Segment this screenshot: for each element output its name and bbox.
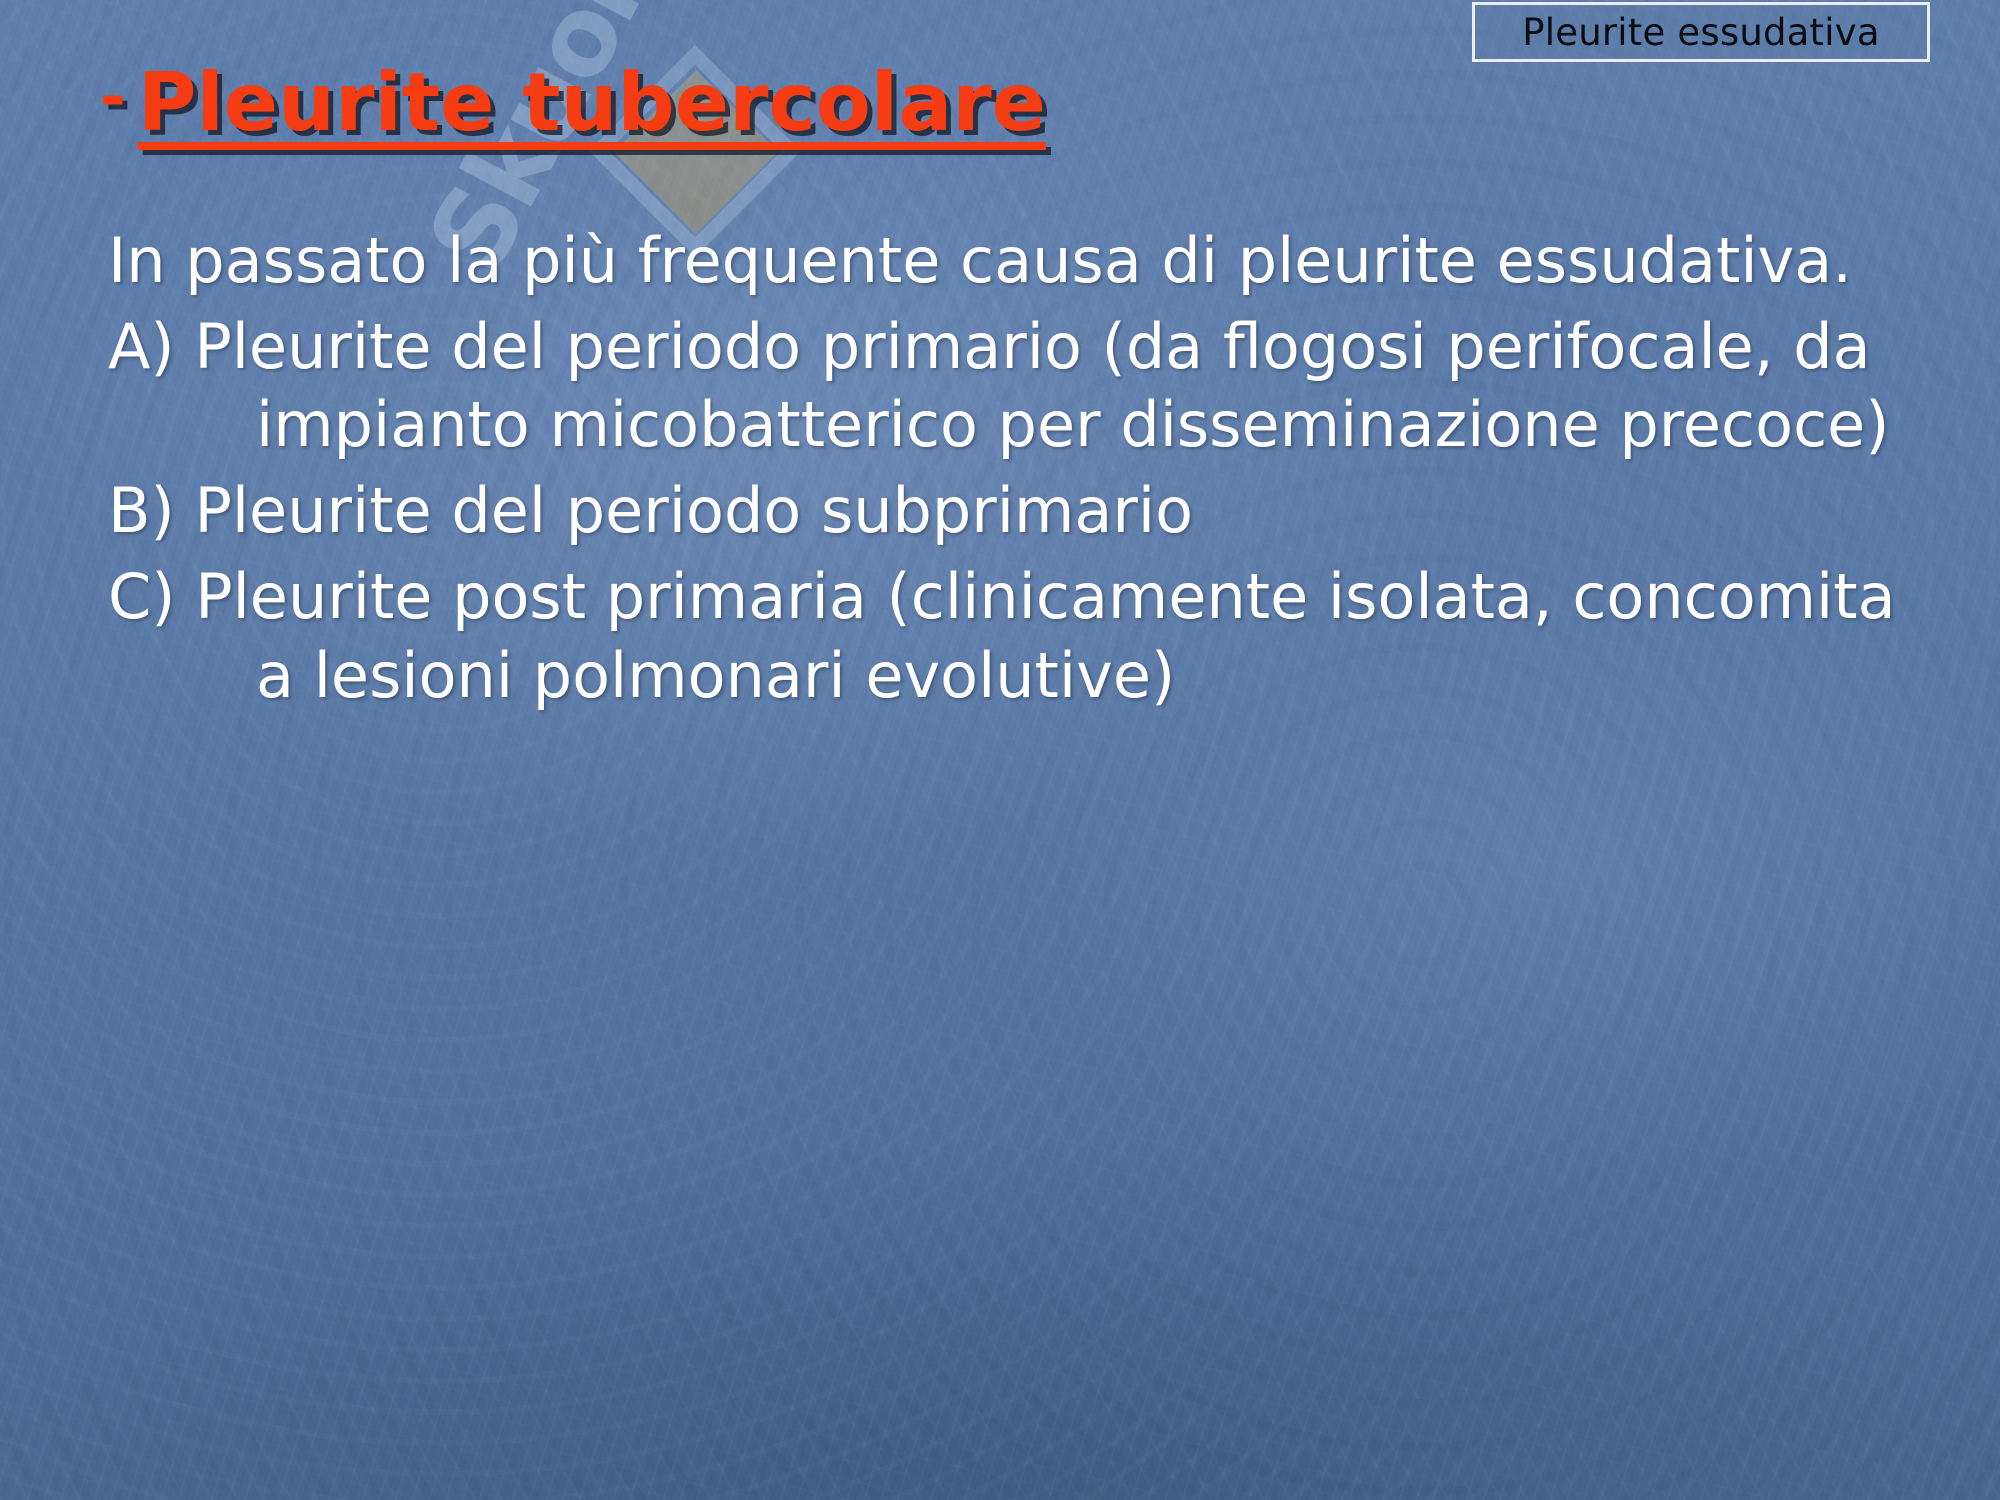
slide-body: In passato la più frequente causa di ple…: [108, 222, 1918, 723]
paragraph-text: Pleurite del periodo subprimario: [194, 474, 1193, 547]
paragraph-marker: B): [108, 474, 194, 547]
slide-topic-label: Pleurite essudativa: [1522, 14, 1879, 51]
presentation-slide: Skuola Pleurite essudativa -Pleurite tub…: [0, 0, 2000, 1500]
paragraph-text: Pleurite post primaria (clinicamente iso…: [195, 560, 1895, 711]
body-paragraph: C) Pleurite post primaria (clinicamente …: [108, 558, 1918, 714]
paragraph-marker: C): [108, 560, 195, 633]
slide-title: -Pleurite tubercolare: [100, 62, 1400, 144]
body-paragraph: In passato la più frequente causa di ple…: [108, 222, 1918, 300]
title-text: Pleurite tubercolare: [138, 56, 1046, 149]
title-dash: -: [100, 60, 126, 133]
slide-topic-chip: Pleurite essudativa: [1472, 2, 1930, 62]
body-paragraph: A) Pleurite del periodo primario (da flo…: [108, 308, 1918, 464]
body-paragraph: B) Pleurite del periodo subprimario: [108, 472, 1918, 550]
paragraph-text: In passato la più frequente causa di ple…: [108, 224, 1852, 297]
paragraph-marker: A): [108, 310, 194, 383]
paragraph-text: Pleurite del periodo primario (da flogos…: [194, 310, 1889, 461]
